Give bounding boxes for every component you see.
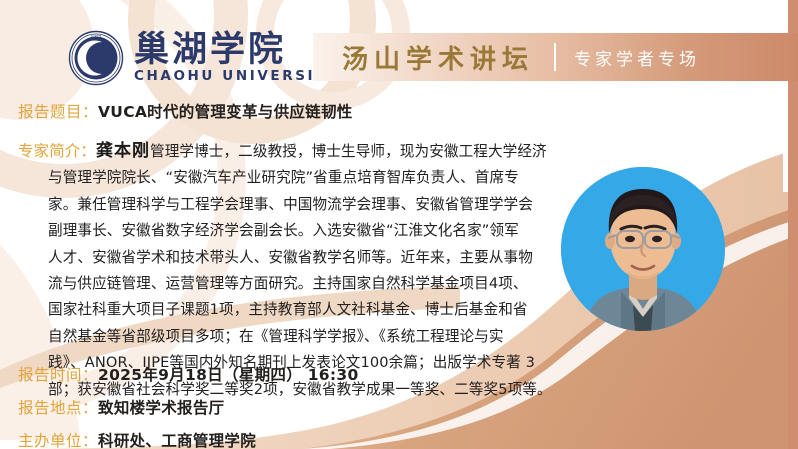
speaker-bio-label: 专家简介：	[18, 142, 96, 160]
speaker-bio-line: 流与供应链管理、运营管理等方面研究。主持国家自然科学基金项目4项、	[18, 271, 548, 297]
decorative-right-strip-gap	[783, 92, 788, 192]
report-place-row: 报告地点： 致知楼学术报告厅	[18, 396, 224, 418]
report-host-row: 主办单位： 科研处、工商管理学院	[18, 429, 256, 449]
report-time-value: 2025年9月18日（星期四） 16:30	[98, 363, 359, 385]
report-place-label: 报告地点：	[18, 396, 98, 418]
speaker-name: 龚本刚	[96, 141, 150, 161]
report-time-label: 报告时间：	[18, 363, 98, 385]
university-logo: 巢 1977 巢湖学院 CHAOHU UNIVERSITY	[68, 30, 339, 86]
speaker-bio-line: 副理事长、安徽省数字经济学会副会长。入选安徽省“江淮文化名家”领军	[18, 218, 548, 244]
university-seal-icon: 巢 1977	[68, 30, 124, 86]
poster-header: 巢 1977 巢湖学院 CHAOHU UNIVERSITY 汤山学术讲坛 专家学…	[0, 0, 798, 92]
speaker-portrait	[561, 167, 725, 331]
report-place-value: 致知楼学术报告厅	[98, 396, 224, 418]
report-title-row: 报告题目： VUCA时代的管理变革与供应链韧性	[18, 100, 353, 122]
speaker-bio-line: 人才、安徽省学术和技术带头人、安徽省教学名师等。近年来，主要从事物	[18, 245, 548, 271]
speaker-bio-line: 国家社科重大项目子课题1项，主持教育部人文社科基金、博士后基金和省	[18, 297, 548, 323]
speaker-bio-text: 管理学博士，二级教授，博士生导师，现为安徽工程大学经济	[150, 143, 547, 160]
banner-divider	[554, 43, 556, 71]
speaker-bio-line: 家。兼任管理科学与工程学会理事、中国物流学会理事、安徽省管理学学会	[18, 192, 548, 218]
university-name-cn: 巢湖学院	[134, 32, 339, 67]
report-title-value: VUCA时代的管理变革与供应链韧性	[98, 100, 353, 122]
report-host-label: 主办单位：	[18, 429, 98, 449]
university-name-en: CHAOHU UNIVERSITY	[134, 70, 339, 84]
forum-banner: 汤山学术讲坛 专家学者专场	[313, 33, 798, 81]
report-time-row: 报告时间： 2025年9月18日（星期四） 16:30	[18, 363, 359, 385]
forum-title: 汤山学术讲坛	[342, 39, 534, 76]
svg-text:1977: 1977	[91, 35, 102, 40]
speaker-bio-line: 自然基金等省部级项目多项；在《管理科学学报》、《系统工程理论与实	[18, 324, 548, 350]
report-host-value: 科研处、工商管理学院	[98, 429, 256, 449]
report-title-label: 报告题目：	[18, 100, 98, 122]
svg-text:巢: 巢	[90, 48, 101, 60]
speaker-bio-line: 与管理学院院长、“安徽汽车产业研究院”省重点培育智库负责人、首席专	[18, 165, 548, 191]
speaker-bio-line: 专家简介：龚本刚管理学博士，二级教授，博士生导师，现为安徽工程大学经济	[18, 138, 548, 165]
seminar-poster: 巢 1977 巢湖学院 CHAOHU UNIVERSITY 汤山学术讲坛 专家学…	[0, 0, 798, 449]
forum-subtitle: 专家学者专场	[574, 45, 700, 70]
